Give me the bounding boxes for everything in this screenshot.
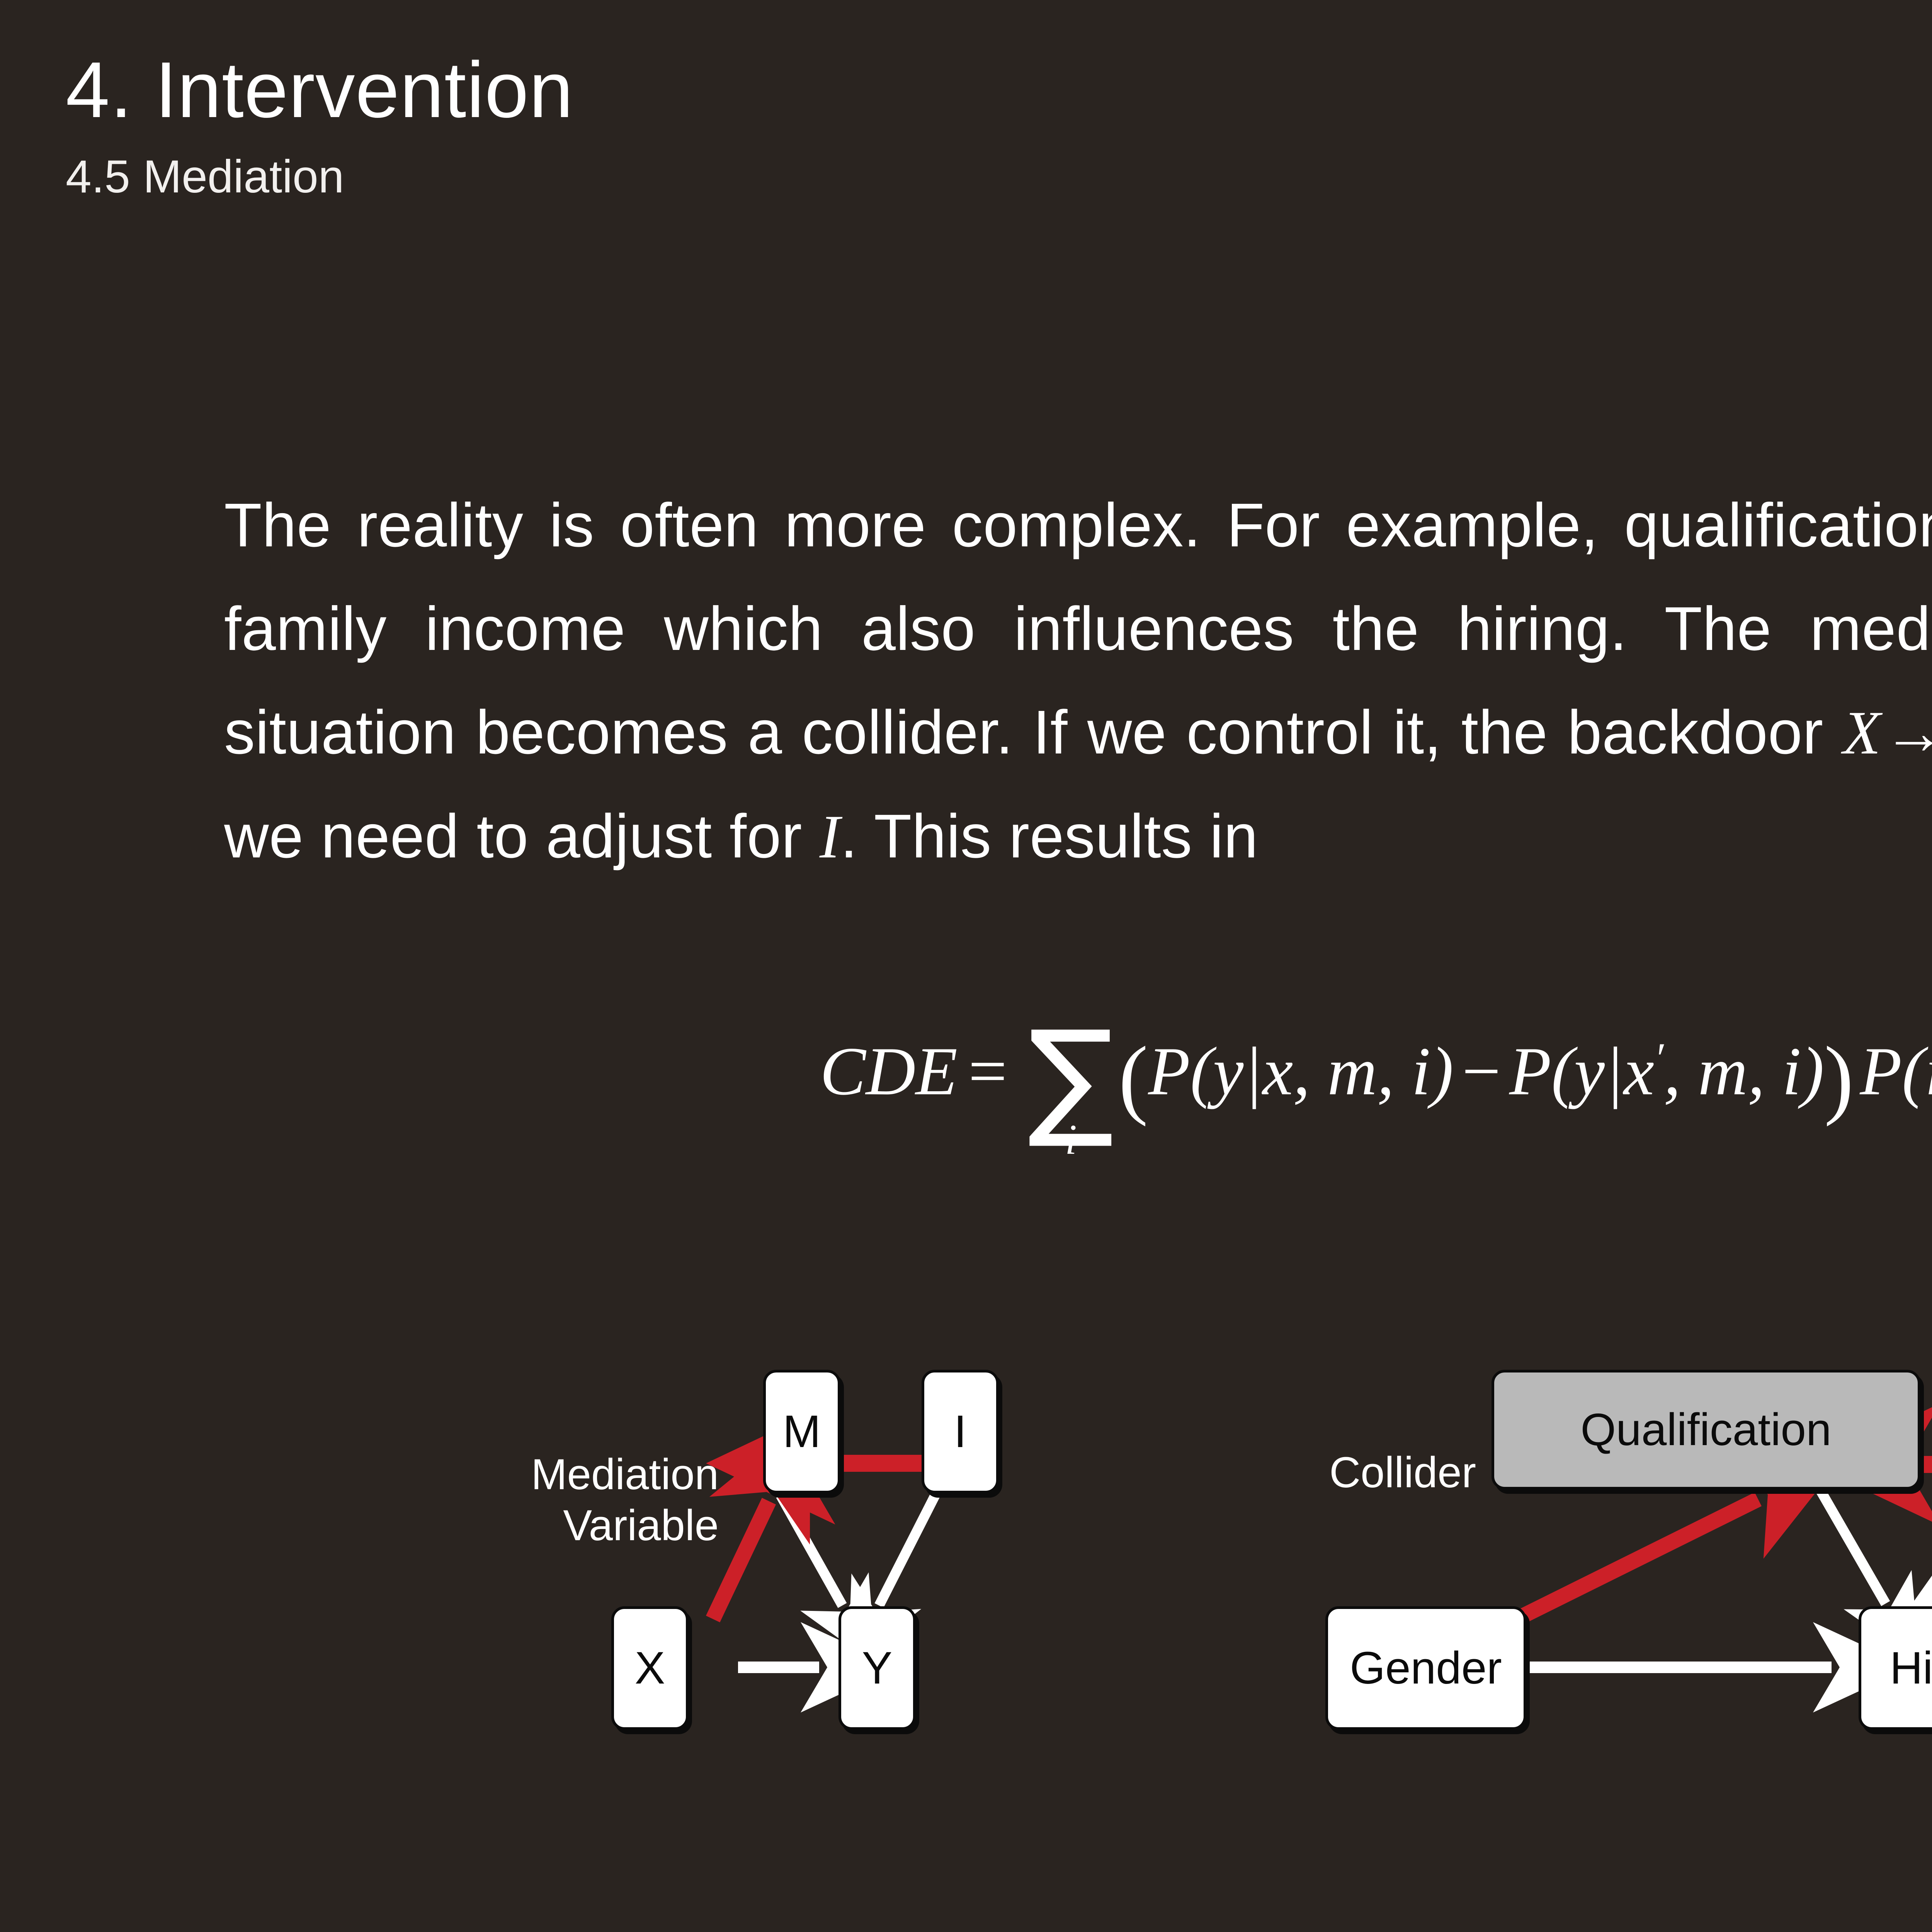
node-gender[interactable]: Gender bbox=[1325, 1606, 1526, 1730]
backdoor-x: X bbox=[1843, 698, 1881, 767]
edge-qualification-to-hiring bbox=[1820, 1490, 1886, 1604]
formula-lhs: CDE bbox=[820, 1033, 957, 1109]
formula-prime: ′ bbox=[1654, 1034, 1664, 1082]
node-x-label: X bbox=[635, 1642, 665, 1694]
node-x[interactable]: X bbox=[611, 1606, 689, 1730]
edge-m-to-y bbox=[781, 1495, 842, 1605]
collider-dag: Collider Qualification Income Gender Hir… bbox=[1291, 1349, 1932, 1781]
body-part-3: . This results in bbox=[840, 801, 1258, 871]
backdoor-arrow-1: → bbox=[1881, 698, 1932, 767]
summation-symbol: ∑i bbox=[1028, 1024, 1114, 1131]
body-paragraph: The reality is often more complex. For e… bbox=[224, 473, 1932, 888]
formula-close-paren: ) bbox=[1824, 1028, 1854, 1127]
mediation-variable-label: Mediation Variable bbox=[440, 1449, 719, 1551]
node-m[interactable]: M bbox=[763, 1370, 840, 1493]
formula-term-1: P(y|x, m, i) bbox=[1148, 1033, 1453, 1109]
node-y[interactable]: Y bbox=[838, 1606, 916, 1730]
body-part-1: The reality is often more complex. For e… bbox=[224, 490, 1932, 767]
node-hiring-label: Hiring bbox=[1890, 1642, 1932, 1694]
formula-term-2-head: P(y|x bbox=[1509, 1033, 1654, 1109]
node-hiring[interactable]: Hiring bbox=[1859, 1606, 1932, 1730]
edge-x-to-m bbox=[713, 1501, 769, 1619]
node-qualification[interactable]: Qualification bbox=[1492, 1370, 1920, 1490]
node-i-label: I bbox=[954, 1405, 967, 1458]
formula-minus: − bbox=[1454, 1033, 1509, 1109]
sum-index: i bbox=[1065, 1115, 1077, 1164]
page-subtitle: 4.5 Mediation bbox=[66, 153, 1932, 200]
node-i[interactable]: I bbox=[922, 1370, 999, 1493]
node-gender-label: Gender bbox=[1350, 1642, 1502, 1694]
adjust-variable: I bbox=[820, 802, 840, 871]
title-block: 4. Intervention 4.5 Mediation bbox=[66, 50, 1932, 200]
mediation-dag: Mediation Variable M I X Y bbox=[425, 1349, 1298, 1781]
formula-factor: P(i) bbox=[1854, 1033, 1932, 1109]
formula-equals: = bbox=[957, 1033, 1018, 1109]
formula-open-paren: ( bbox=[1119, 1028, 1148, 1127]
edge-gender-to-qualification bbox=[1517, 1499, 1758, 1619]
page-title: 4. Intervention bbox=[66, 50, 1932, 129]
node-m-label: M bbox=[783, 1405, 821, 1458]
edge-i-to-y bbox=[879, 1495, 935, 1605]
node-qualification-label: Qualification bbox=[1580, 1403, 1831, 1456]
node-y-label: Y bbox=[862, 1642, 893, 1694]
cde-formula: CDE=∑i(P(y|x, m, i)−P(y|x′, m, i))P(i) bbox=[0, 1024, 1932, 1131]
slide: 4. Intervention 4.5 Mediation The realit… bbox=[0, 0, 1932, 1932]
formula-term-2-tail: , m, i) bbox=[1663, 1033, 1824, 1109]
collider-label: Collider bbox=[1291, 1447, 1476, 1498]
